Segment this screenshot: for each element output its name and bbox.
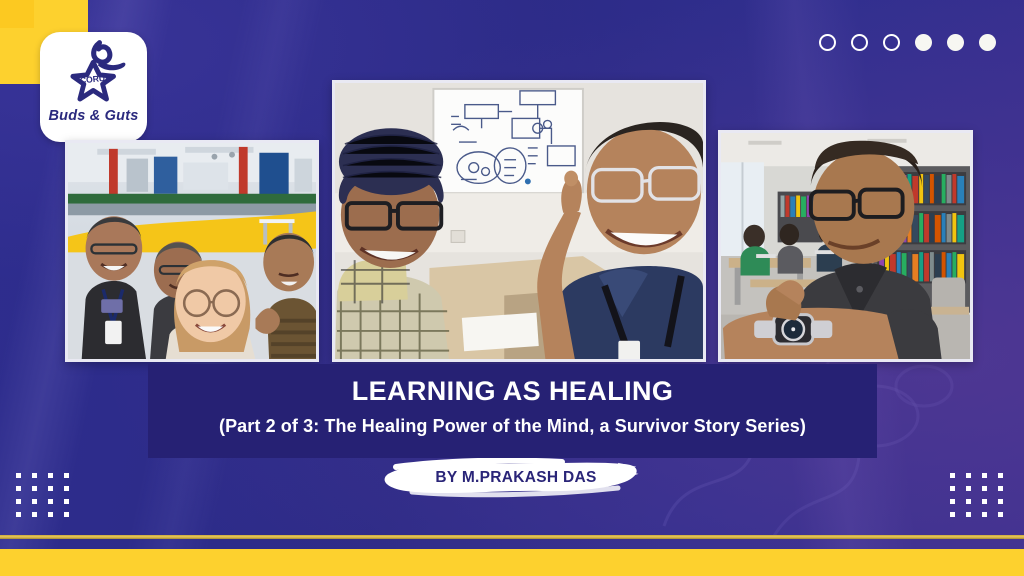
- author-byline-block: BY M.PRAKASH DAS: [382, 458, 644, 498]
- gold-divider-rule: [0, 535, 1024, 539]
- photo-group-selfie-lobby: [65, 140, 319, 362]
- slide-canvas: CORUM Buds & Guts: [0, 0, 1024, 576]
- yellow-bottom-band: [0, 549, 1024, 576]
- page-title: LEARNING AS HEALING: [148, 376, 877, 407]
- title-banner: LEARNING AS HEALING (Part 2 of 3: The He…: [148, 364, 877, 458]
- photo-library-watch: [718, 130, 973, 362]
- photo-whiteboard-session: [332, 80, 706, 362]
- dot-grid-right: [950, 473, 1003, 517]
- page-subtitle: (Part 2 of 3: The Healing Power of the M…: [148, 416, 877, 437]
- author-name: BY M.PRAKASH DAS: [382, 458, 644, 498]
- photo-collage: [0, 0, 1024, 380]
- dot-grid-left: [16, 473, 69, 517]
